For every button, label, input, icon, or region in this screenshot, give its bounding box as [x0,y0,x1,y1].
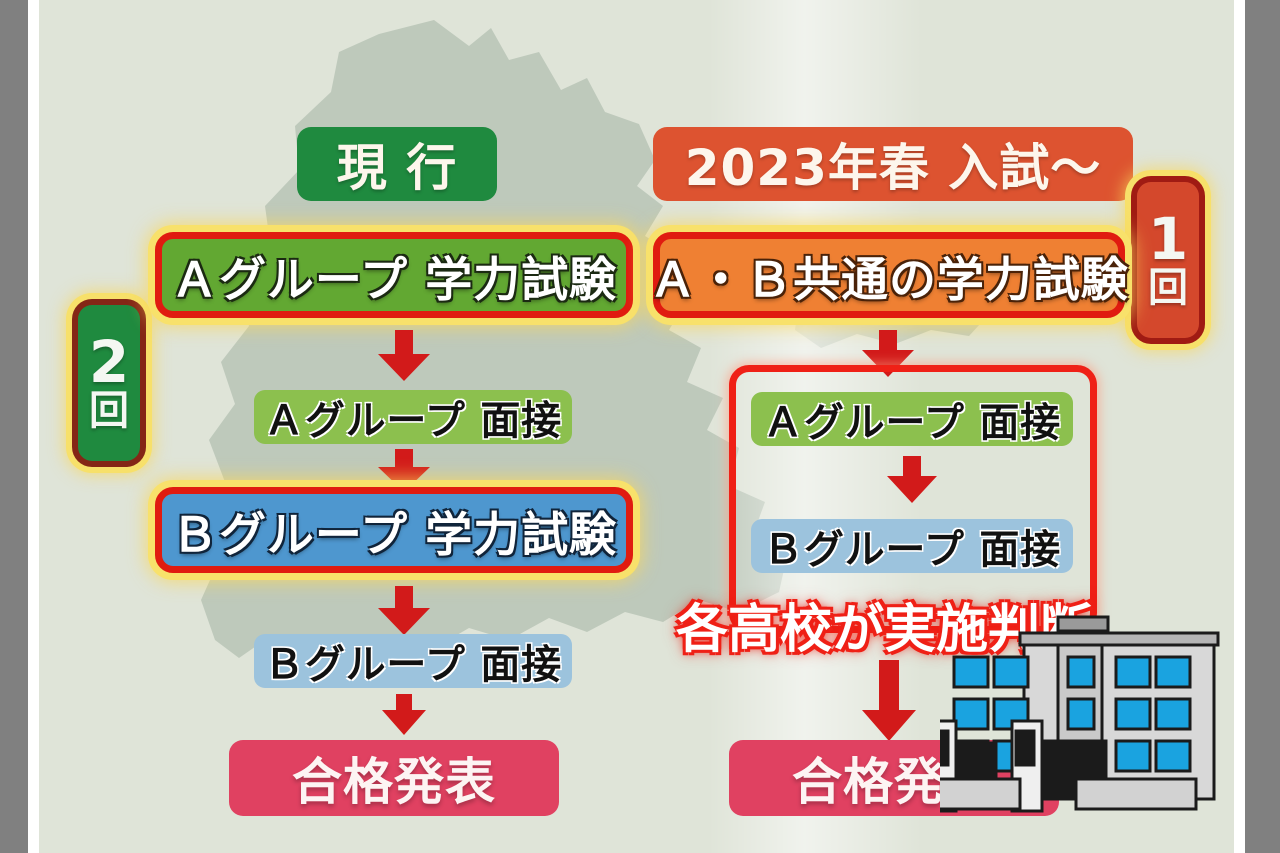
left-count-badge: 2 回 [72,299,146,467]
right-count-badge: 1 回 [1131,176,1205,344]
right-count-unit: 回 [1148,268,1188,308]
right-count-number: 1 [1148,212,1188,267]
right-step-a-mensetsu: Ａグループ 面接 [751,392,1073,446]
left-white-margin [28,0,39,853]
left-step-a-gakuryoku: Ａグループ 学力試験 [155,232,633,318]
left-column-header: 現 行 [297,127,497,201]
school-building-icon [940,603,1234,853]
right-step-ab-gakuryoku: Ａ・Ｂ共通の学力試験 [653,232,1125,318]
left-count-number: 2 [89,335,129,390]
left-step-goukaku: 合格発表 [229,740,559,816]
down-arrow-icon [884,456,940,504]
graphic-plate: 現 行 2 回 Ａグループ 学力試験 Ａグループ 面接 Ｂグループ 学力試験 Ｂ… [39,0,1234,853]
right-step-b-mensetsu: Ｂグループ 面接 [751,519,1073,573]
down-arrow-icon [375,330,433,382]
right-column-header: 2023年春 入試〜 [653,127,1133,201]
right-white-margin [1234,0,1245,853]
screenshot-root: 現 行 2 回 Ａグループ 学力試験 Ａグループ 面接 Ｂグループ 学力試験 Ｂ… [0,0,1280,853]
left-step-b-gakuryoku: Ｂグループ 学力試験 [155,487,633,573]
left-step-a-mensetsu: Ａグループ 面接 [254,390,572,444]
left-step-b-mensetsu: Ｂグループ 面接 [254,634,572,688]
down-arrow-icon [375,586,433,636]
left-count-unit: 回 [89,391,129,431]
down-arrow-icon [379,694,429,736]
down-arrow-icon [859,660,919,742]
